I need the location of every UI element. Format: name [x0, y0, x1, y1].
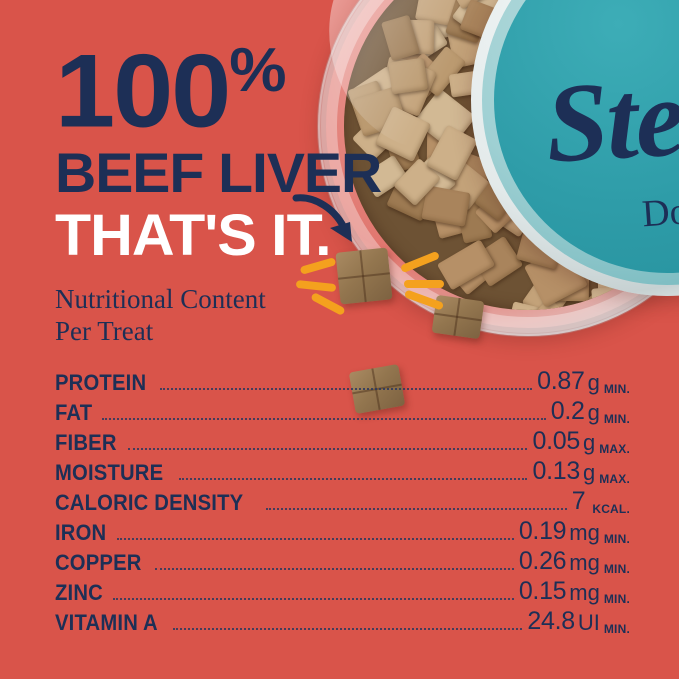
nutrition-qualifier: KCAL. — [592, 502, 630, 516]
nutrition-row: MOISTURE0.13gMAX. — [55, 456, 630, 486]
nutrition-value: 0.15 — [519, 577, 566, 606]
nutrition-label: VITAMIN A — [55, 610, 158, 636]
nutrition-table: PROTEIN0.87gMIN.FAT0.2gMIN.FIBER0.05gMAX… — [55, 366, 630, 636]
nutrition-label: ZINC — [55, 580, 103, 606]
nutrition-value: 0.87 — [537, 367, 584, 396]
headline-100-percent: 100% — [55, 44, 398, 137]
nutrition-qualifier: MIN. — [604, 532, 630, 546]
headline-block: 100% BEEF LIVER THAT'S IT. — [55, 44, 385, 265]
nutrition-qualifier: MIN. — [604, 412, 630, 426]
brand-subtitle: Dog T — [641, 186, 679, 237]
nutrition-dot-leader — [266, 507, 567, 510]
nutrition-unit: g — [583, 430, 595, 456]
nutrition-unit: g — [583, 460, 595, 486]
nutrition-qualifier: MIN. — [604, 562, 630, 576]
nutrition-value: 0.2 — [551, 397, 585, 426]
nutrition-qualifier: MAX. — [599, 442, 630, 456]
nutrition-dot-leader — [117, 537, 514, 540]
nutrition-row: IRON0.19mgMIN. — [55, 516, 630, 546]
nutrition-unit: mg — [569, 520, 600, 546]
headline-beef-liver: BEEF LIVER — [55, 145, 392, 201]
nutrition-heading-line1: Nutritional Content — [55, 284, 266, 316]
nutrition-unit: g — [588, 370, 600, 396]
nutrition-value: 0.19 — [519, 517, 566, 546]
nutrition-dot-leader — [160, 387, 532, 390]
nutrition-label: CALORIC DENSITY — [55, 490, 243, 516]
burst-line — [404, 280, 444, 288]
nutrition-heading-line2: Per Treat — [55, 316, 266, 348]
lid-face: GUARANTEED DELICIOUS Stew Dog T — [494, 0, 679, 273]
nutrition-row: CALORIC DENSITY7KCAL. — [55, 486, 630, 516]
nutrition-qualifier: MIN. — [604, 622, 630, 636]
nutrition-dot-leader — [173, 627, 523, 630]
nutrition-value: 7 — [572, 487, 586, 516]
headline-thats-it: THAT'S IT. — [55, 207, 392, 265]
nutrition-heading: Nutritional Content Per Treat — [55, 284, 266, 348]
headline-number: 100 — [55, 34, 229, 150]
nutrition-unit: mg — [569, 580, 600, 606]
nutrition-unit: UI — [578, 610, 600, 636]
nutrition-qualifier: MIN. — [604, 382, 630, 396]
nutrition-value: 0.13 — [532, 457, 579, 486]
nutrition-row: PROTEIN0.87gMIN. — [55, 366, 630, 396]
nutrition-value: 0.05 — [532, 427, 579, 456]
product-lid: GUARANTEED DELICIOUS Stew Dog T — [471, 0, 679, 296]
nutrition-qualifier: MIN. — [604, 592, 630, 606]
headline-percent-sign: % — [229, 36, 283, 105]
nutrition-qualifier: MAX. — [599, 472, 630, 486]
brand-script-logo: Stew — [543, 50, 679, 190]
nutrition-dot-leader — [128, 447, 527, 450]
nutrition-unit: mg — [569, 550, 600, 576]
nutrition-row: VITAMIN A24.8UIMIN. — [55, 606, 630, 636]
nutrition-dot-leader — [179, 477, 528, 480]
nutrition-label: FAT — [55, 400, 92, 426]
nutrition-value: 24.8 — [527, 607, 574, 636]
nutrition-dot-leader — [113, 597, 514, 600]
nutrition-label: FIBER — [55, 430, 117, 456]
product-marketing-image: GUARANTEED DELICIOUS Stew Dog T 100% BEE… — [0, 0, 679, 679]
nutrition-row: FAT0.2gMIN. — [55, 396, 630, 426]
nutrition-value: 0.26 — [519, 547, 566, 576]
nutrition-label: COPPER — [55, 550, 142, 576]
nutrition-row: ZINC0.15mgMIN. — [55, 576, 630, 606]
nutrition-label: IRON — [55, 520, 106, 546]
nutrition-dot-leader — [102, 417, 546, 420]
nutrition-row: COPPER0.26mgMIN. — [55, 546, 630, 576]
nutrition-dot-leader — [155, 567, 514, 570]
nutrition-unit: g — [588, 400, 600, 426]
nutrition-row: FIBER0.05gMAX. — [55, 426, 630, 456]
nutrition-label: PROTEIN — [55, 370, 146, 396]
nutrition-label: MOISTURE — [55, 460, 163, 486]
